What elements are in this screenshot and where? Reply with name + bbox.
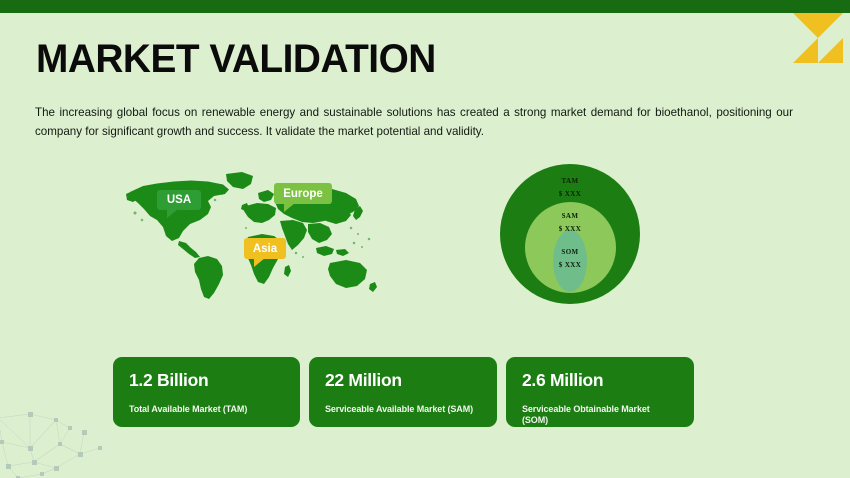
map-label-europe-tail — [284, 203, 295, 212]
map-label-usa[interactable]: USA — [157, 190, 201, 210]
stat-card-row: 1.2 Billion Total Available Market (TAM)… — [113, 357, 683, 427]
tam-label-value: $ XXX — [500, 189, 640, 200]
tam-label-name: TAM — [500, 176, 640, 187]
map-label-asia-tail — [254, 258, 265, 267]
som-label-value: $ XXX — [500, 260, 640, 271]
map-label-usa-text: USA — [167, 194, 191, 206]
stat-card-tam-value: 1.2 Billion — [129, 371, 284, 390]
map-label-europe-text: Europe — [283, 188, 323, 200]
yellow-pinwheel-triangles-icon — [793, 13, 843, 63]
intro-paragraph: The increasing global focus on renewable… — [35, 103, 793, 141]
som-label: SOM $ XXX — [500, 247, 640, 271]
tam-sam-som-diagram: TAM $ XXX SAM $ XXX SOM $ XXX — [500, 164, 640, 304]
som-label-name: SOM — [500, 247, 640, 258]
stat-card-sam-label: Serviceable Available Market (SAM) — [325, 404, 481, 415]
stat-card-sam-value: 22 Million — [325, 371, 481, 390]
pinwheel-triangle-top-left — [793, 13, 818, 38]
sam-label: SAM $ XXX — [500, 211, 640, 235]
world-map — [120, 168, 385, 303]
slide-market-validation: MARKET VALIDATION The increasing global … — [0, 0, 850, 478]
stat-card-sam[interactable]: 22 Million Serviceable Available Market … — [309, 357, 497, 427]
page-title: MARKET VALIDATION — [36, 38, 436, 80]
pinwheel-triangle-bottom-right — [818, 38, 843, 63]
stat-card-tam-label: Total Available Market (TAM) — [129, 404, 284, 415]
top-accent-bar — [0, 0, 850, 13]
network-dots-graphic — [0, 408, 124, 478]
map-label-usa-tail — [167, 209, 178, 218]
stat-card-som-label: Serviceable Obtainable Market (SOM) — [522, 404, 678, 426]
stat-card-tam[interactable]: 1.2 Billion Total Available Market (TAM) — [113, 357, 300, 427]
tam-label: TAM $ XXX — [500, 176, 640, 200]
map-label-asia[interactable]: Asia — [244, 238, 286, 259]
sam-label-name: SAM — [500, 211, 640, 222]
map-label-asia-text: Asia — [253, 243, 277, 255]
stat-card-som[interactable]: 2.6 Million Serviceable Obtainable Marke… — [506, 357, 694, 427]
pinwheel-triangle-top-right — [818, 13, 843, 38]
sam-label-value: $ XXX — [500, 224, 640, 235]
pinwheel-triangle-bottom-left — [793, 38, 818, 63]
stat-card-som-value: 2.6 Million — [522, 371, 678, 390]
map-label-europe[interactable]: Europe — [274, 183, 332, 204]
